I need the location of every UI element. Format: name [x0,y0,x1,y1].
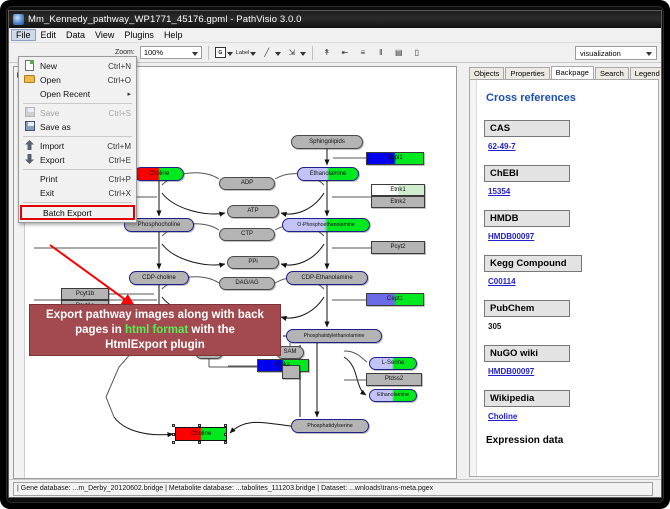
menu-item-export[interactable]: Export Ctrl+E [19,153,136,167]
open-folder-icon [19,75,40,85]
align-center-vertical-button[interactable]: ≡ [355,45,370,60]
node-o-phosphoethanolamine[interactable]: O-Phosphoethanolamine [282,218,370,232]
menu-help[interactable]: Help [159,29,188,41]
menu-item-label: Batch Export [43,208,133,218]
callout-line-3: HtmlExport plugin [105,338,205,353]
file-menu-popup[interactable]: New Ctrl+N Open Ctrl+O Open Recent ▸ Sav… [18,56,137,223]
import-icon [19,140,40,152]
node-label: O-Phosphoethanolamine [297,222,354,229]
callout-line-2-b: with the [188,324,235,336]
menu-data[interactable]: Data [61,29,90,41]
menu-edit[interactable]: Edit [36,29,62,41]
menu-item-label: Print [40,174,109,184]
grid-dropdown-button[interactable]: G [215,47,233,58]
node-gene-pcyt1b[interactable]: Pcyt1b [61,288,109,300]
submenu-arrow-icon: ▸ [127,90,131,98]
menu-item-label: New [40,61,108,71]
menu-item-shortcut: Ctrl+O [108,76,136,85]
node-ethanolamine-bottom[interactable]: Ethanolamine [369,389,417,402]
pathvisio-icon [13,14,24,25]
cross-references-heading: Cross references [486,92,650,104]
node-label: Etnk1 [390,187,405,194]
toolbar-separator [208,46,209,60]
node-gene-pcyt2[interactable]: Pcyt2 [371,241,425,254]
save-icon [19,107,40,119]
label-dropdown-button[interactable]: Label [236,49,256,56]
visualization-value: visualization [580,49,621,58]
side-panel: Objects Properties Backpage Search Legen… [461,66,659,479]
menu-item-open[interactable]: Open Ctrl+O [19,73,136,87]
menu-item-new[interactable]: New Ctrl+N [19,59,136,73]
common-width-button[interactable]: ▤ [391,45,406,60]
zoom-combobox[interactable]: 100% [140,46,202,59]
menu-view[interactable]: View [90,29,119,41]
node-phosphatidylserine[interactable]: Phosphatidylserine [291,419,369,433]
node-label: Choline [191,431,211,438]
menu-separator [23,103,132,104]
node-gene-cept1[interactable]: Cept1 [366,293,424,306]
window-titlebar: Mm_Kennedy_pathway_WP1771_45176.gpml - P… [9,11,661,28]
backpage-panel: Cross references CAS 62-49-7 ChEBI 15354… [469,79,659,477]
node-label: Phosphatidylserine [307,423,353,430]
node-dag-ag[interactable]: DAG/AG [219,277,275,290]
node-label: Pcyt2 [390,244,405,251]
node-label: Cept1 [387,296,403,303]
xref-link-nugo-wiki[interactable]: HMDB00097 [488,367,650,376]
menu-file[interactable]: File [11,29,36,41]
xref-header-kegg-compound: Kegg Compound [484,255,582,272]
menu-item-shortcut: Ctrl+P [109,175,136,184]
chevron-down-icon [300,52,306,56]
node-label: Etnk2 [390,199,405,206]
visualization-combobox[interactable]: visualization [575,46,657,60]
line-tool-button[interactable]: ╱ [259,45,281,60]
annotation-callout: Export pathway images along with back pa… [29,304,281,356]
label-icon: Label [236,50,249,56]
menu-item-label: Import [40,141,107,151]
xref-header-hmdb: HMDB [484,210,570,227]
statusbar-text: | Gene database: ...m_Derby_20120602.bri… [13,482,653,496]
chevron-down-icon [192,52,198,56]
menu-item-label: Exit [40,188,109,198]
callout-line-2: pages in html format with the [75,323,235,338]
common-height-button[interactable]: ▯ [409,45,424,60]
screenshot-frame: Mm_Kennedy_pathway_WP1771_45176.gpml - P… [0,0,670,509]
expression-data-heading: Expression data [486,435,650,446]
line-icon: ╱ [259,45,274,60]
node-cdp-ethanolamine[interactable]: CDP-Ethanolamine [286,271,368,285]
backpage-content: Cross references CAS 62-49-7 ChEBI 15354… [478,80,658,476]
xref-link-chebi[interactable]: 15354 [488,187,650,196]
node-l-serine[interactable]: L-Serine [369,357,417,370]
xref-link-kegg-compound[interactable]: C00114 [488,277,650,286]
xref-header-wikipedia: Wikipedia [484,390,570,407]
node-gene-etnk1[interactable]: Etnk1 [371,184,425,196]
menu-separator [23,136,132,137]
node-label: SAM [283,349,296,356]
menu-separator [23,169,132,170]
menu-item-label: Save as [40,122,131,132]
menu-item-open-recent[interactable]: Open Recent ▸ [19,87,136,101]
menu-item-batch-export[interactable]: Batch Export [20,205,135,220]
xref-header-chebi: ChEBI [484,165,570,182]
xref-link-cas[interactable]: 62-49-7 [488,142,650,151]
interaction-tool-button[interactable]: ⇲ [284,45,306,60]
menu-item-save: Save Ctrl+S [19,106,136,120]
node-label: Ethanolamine [310,171,347,178]
node-label: Ethanolamine [377,392,409,399]
menu-item-shortcut: Ctrl+E [109,156,136,165]
zoom-label: Zoom: [115,49,135,56]
menu-separator [23,202,132,203]
export-icon [19,154,40,166]
node-ppi[interactable]: PPi [227,256,279,269]
xref-header-nugo-wiki: NuGO wiki [484,345,570,362]
node-label: L-Serine [382,360,405,367]
node-label: DAG/AG [235,280,258,287]
menu-item-shortcut: Ctrl+X [109,189,136,198]
chevron-down-icon [646,52,652,56]
interaction-icon: ⇲ [284,45,299,60]
menu-item-label: Export [40,155,109,165]
menu-item-label: Save [40,108,109,118]
node-label: ATP [247,208,258,215]
save-as-icon [19,121,40,133]
statusbar: | Gene database: ...m_Derby_20120602.bri… [9,479,662,497]
menu-item-shortcut: Ctrl+S [109,109,136,118]
node-ethanolamine-top[interactable]: Ethanolamine [297,167,359,181]
pathvisio-application-window: Mm_Kennedy_pathway_WP1771_45176.gpml - P… [8,10,662,498]
menu-item-print[interactable]: Print Ctrl+P [19,172,136,186]
backpage-scrollbar[interactable] [470,80,477,476]
xref-value-pubchem: 305 [488,322,650,331]
chevron-down-icon [250,52,256,56]
node-label: Sphingolipids [309,139,345,146]
chevron-down-icon [227,52,233,56]
node-gene-sgpl1[interactable]: Sgpl1 [366,152,424,165]
menu-item-import[interactable]: Import Ctrl+M [19,139,136,153]
align-top-button[interactable]: ↟ [319,45,334,60]
menu-item-shortcut: Ctrl+N [108,62,136,71]
menu-plugins[interactable]: Plugins [119,29,159,41]
node-label: Ptdss2 [385,376,403,383]
node-choline-bottom[interactable]: Choline [175,427,227,441]
node-label: ADP [241,180,253,187]
side-panel-tabs[interactable]: Objects Properties Backpage Search Legen… [469,66,659,80]
node-adp[interactable]: ADP [219,177,275,190]
node-label: Sgpl1 [387,155,402,162]
menu-item-label: Open [40,75,108,85]
node-choline-top[interactable]: Choline [134,167,184,181]
xref-link-wikipedia[interactable]: Choline [488,412,650,421]
xref-header-pubchem: PubChem [484,300,570,317]
chevron-down-icon [275,52,281,56]
node-phosphatidylethanolamine[interactable]: Phosphatidylethanolamine [286,329,382,343]
node-sphingolipids[interactable]: Sphingolipids [291,135,363,149]
node-cdp-choline[interactable]: CDP-choline [129,271,189,285]
menu-item-shortcut: Ctrl+M [107,142,136,151]
new-document-icon [19,60,40,73]
tab-backpage[interactable]: Backpage [551,66,594,80]
node-label: Phosphocholine [138,222,181,229]
menu-item-save-as[interactable]: Save as [19,120,136,134]
node-label: Phosphatidylethanolamine [304,333,365,340]
node-label: CTP [241,231,253,238]
grid-icon: G [215,47,226,58]
node-label: Chka [276,362,290,369]
toolbar-separator [312,46,313,60]
node-label: CDP-choline [142,275,176,282]
node-ctp[interactable]: CTP [219,228,275,241]
callout-line-2-a: pages in [75,324,125,336]
distribute-horizontal-button[interactable]: ‖ [373,45,388,60]
node-label: CDP-Ethanolamine [301,275,352,282]
node-label: Pcyt1b [76,291,94,298]
callout-line-1: Export pathway images along with back [46,308,264,323]
node-gene-etnk2[interactable]: Etnk2 [371,196,425,208]
window-title: Mm_Kennedy_pathway_WP1771_45176.gpml - P… [28,14,302,25]
node-gene-ptdss2[interactable]: Ptdss2 [366,373,422,386]
callout-highlight: html format [125,324,188,336]
menubar[interactable]: File Edit Data View Plugins Help [9,28,661,43]
xref-header-cas: CAS [484,120,570,137]
menu-item-label: Open Recent [40,89,136,99]
node-atp[interactable]: ATP [227,205,279,218]
xref-link-hmdb[interactable]: HMDB00097 [488,232,650,241]
align-left-button[interactable]: ⇤ [337,45,352,60]
menu-item-exit[interactable]: Exit Ctrl+X [19,186,136,200]
zoom-value: 100% [144,48,163,57]
node-label: PPi [248,259,257,266]
node-label: Choline [149,171,169,178]
